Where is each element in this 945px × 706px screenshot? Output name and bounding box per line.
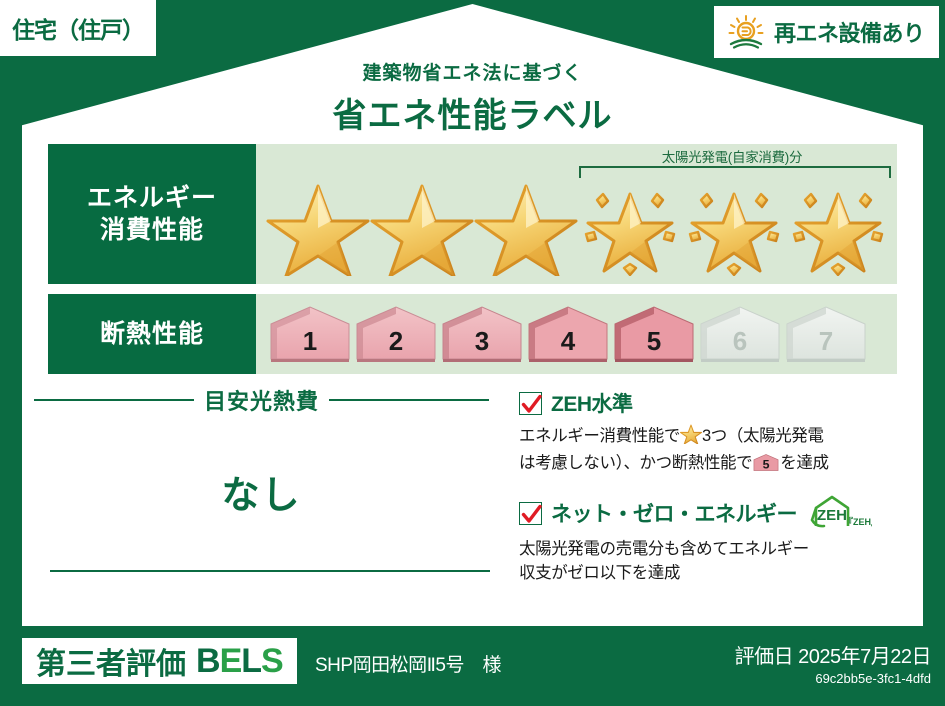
energy-performance-label: エネルギー 消費性能 — [48, 144, 256, 284]
bels-letter-e: E — [220, 642, 242, 680]
energy-performance-meter: 太陽光発電(自家消費)分 — [256, 144, 897, 284]
insulation-grade-4: 4 — [526, 304, 610, 362]
utility-cost-heading: 目安光熱費 — [34, 384, 489, 416]
insulation-grade-value: 2 — [354, 326, 438, 357]
insulation-grade-value: 7 — [784, 326, 868, 357]
grade-badge-icon: 5 — [753, 453, 779, 480]
owner-name: SHP岡田松岡Ⅱ5号 様 — [315, 650, 501, 677]
label-footer: 第三者評価 BELS SHP岡田松岡Ⅱ5号 様 評価日 2025年7月22日 6… — [0, 626, 945, 706]
check-body-part4: を達成 — [780, 454, 828, 472]
evaluation-date: 評価日 2025年7月22日 — [735, 640, 931, 669]
insulation-grade-value: 4 — [526, 326, 610, 357]
zeh-checks-block: ZEH水準 エネルギー消費性能で 3つ（太陽光発電 は考慮しない）、かつ断熱性能… — [519, 388, 919, 600]
insulation-performance-meter: 1 2 3 — [256, 294, 897, 374]
solar-portion-annotation: 太陽光発電(自家消費)分 — [573, 146, 891, 166]
check-body-zeh-level: エネルギー消費性能で 3つ（太陽光発電 は考慮しない）、かつ断熱性能で 5 を達… — [519, 423, 919, 480]
solar-portion-caption: 太陽光発電(自家消費)分 — [573, 146, 891, 166]
star-rating — [256, 176, 897, 276]
insulation-label-text: 断熱性能 — [100, 318, 204, 350]
solar-sun-icon — [726, 14, 766, 50]
insulation-grade-6: 6 — [698, 304, 782, 362]
renewable-badge-label: 再エネ設備あり — [774, 16, 925, 48]
svg-text:ZEH: ZEH — [817, 507, 847, 524]
star-icon — [266, 176, 370, 276]
check-body-part1: エネルギー消費性能で — [519, 427, 680, 445]
star-icon — [370, 176, 474, 276]
checkbox-zeh-level[interactable] — [519, 392, 542, 415]
label-title-block: 建築物省エネ法に基づく 省エネ性能ラベル — [0, 58, 945, 137]
insulation-performance-label: 断熱性能 — [48, 294, 256, 374]
energy-label-line1: エネルギー — [87, 182, 217, 214]
bels-logo-plate: 第三者評価 BELS — [22, 638, 297, 684]
check-body-part3: は考慮しない）、かつ断熱性能で — [519, 454, 752, 472]
insulation-grade-2: 2 — [354, 304, 438, 362]
check-body-net-zero-energy: 太陽光発電の売電分も含めてエネルギー 収支がゼロ以下を達成 — [519, 538, 919, 586]
insulation-grade-scale: 1 2 3 — [268, 304, 868, 362]
evaluation-info: 評価日 2025年7月22日 69c2bb5e-3fc1-4dfd — [735, 640, 931, 686]
utility-cost-heading-text: 目安光熱費 — [204, 384, 319, 416]
utility-cost-bottom-rule — [50, 570, 490, 572]
check-title-net-zero-energy: ネット・ゼロ・エネルギー — [551, 498, 797, 528]
check-head: ZEH水準 — [519, 388, 919, 418]
category-tag-label: 住宅（住戸） — [12, 11, 144, 45]
insulation-grade-value: 6 — [698, 326, 782, 357]
insulation-grade-value: 3 — [440, 326, 524, 357]
check-item-net-zero-energy: ネット・ゼロ・エネルギー ZEH 『ZEH』 太陽光発電の売電分も含めてエネルギ… — [519, 494, 919, 586]
insulation-grade-3: 3 — [440, 304, 524, 362]
star-icon-solar — [578, 176, 682, 276]
third-party-evaluation-label: 第三者評価 — [36, 639, 186, 683]
check-title-zeh-level: ZEH水準 — [551, 388, 633, 418]
energy-performance-row: エネルギー 消費性能 太陽光発電(自家消費)分 — [48, 144, 897, 284]
utility-cost-block: 目安光熱費 なし — [34, 384, 489, 519]
svg-text:5: 5 — [763, 457, 770, 471]
insulation-grade-value: 1 — [268, 326, 352, 357]
insulation-performance-row: 断熱性能 1 2 — [48, 294, 897, 374]
heading-rule-left — [34, 399, 194, 401]
renewable-energy-badge: 再エネ設備あり — [714, 6, 939, 58]
evaluation-id: 69c2bb5e-3fc1-4dfd — [735, 671, 931, 686]
svg-text:『ZEH』: 『ZEH』 — [844, 516, 872, 527]
bels-letter-s: S — [261, 642, 283, 680]
star-icon-solar — [786, 176, 890, 276]
insulation-grade-value: 5 — [612, 326, 696, 357]
heading-rule-right — [329, 399, 489, 401]
check-body-part2: 3つ（太陽光発電 — [702, 427, 823, 445]
star-icon — [680, 423, 702, 452]
star-icon-solar — [682, 176, 786, 276]
check-body-line1: 太陽光発電の売電分も含めてエネルギー — [519, 540, 809, 558]
check-icon — [520, 393, 543, 416]
insulation-grade-1: 1 — [268, 304, 352, 362]
insulation-grade-7: 7 — [784, 304, 868, 362]
utility-cost-value: なし — [34, 464, 489, 519]
check-icon — [520, 503, 543, 526]
title-subtitle: 建築物省エネ法に基づく — [0, 58, 945, 85]
category-tag: 住宅（住戸） — [0, 0, 156, 56]
check-item-zeh-level: ZEH水準 エネルギー消費性能で 3つ（太陽光発電 は考慮しない）、かつ断熱性能… — [519, 388, 919, 480]
checkbox-net-zero-energy[interactable] — [519, 502, 542, 525]
insulation-grade-5: 5 — [612, 304, 696, 362]
zeh-house-logo: ZEH 『ZEH』 — [810, 494, 872, 533]
check-head: ネット・ゼロ・エネルギー ZEH 『ZEH』 — [519, 494, 919, 533]
bels-letter-b: B — [196, 642, 220, 680]
bels-energy-label: 住宅（住戸） 再エネ設備あり 建築物省エネ法に基づく 省エネ性能ラベル — [0, 0, 945, 706]
energy-label-line2: 消費性能 — [100, 214, 204, 246]
check-body-line2: 収支がゼロ以下を達成 — [519, 564, 680, 582]
bels-wordmark: BELS — [196, 642, 283, 681]
page-title: 省エネ性能ラベル — [0, 88, 945, 137]
star-icon — [474, 176, 578, 276]
bels-letter-l: L — [241, 642, 261, 680]
